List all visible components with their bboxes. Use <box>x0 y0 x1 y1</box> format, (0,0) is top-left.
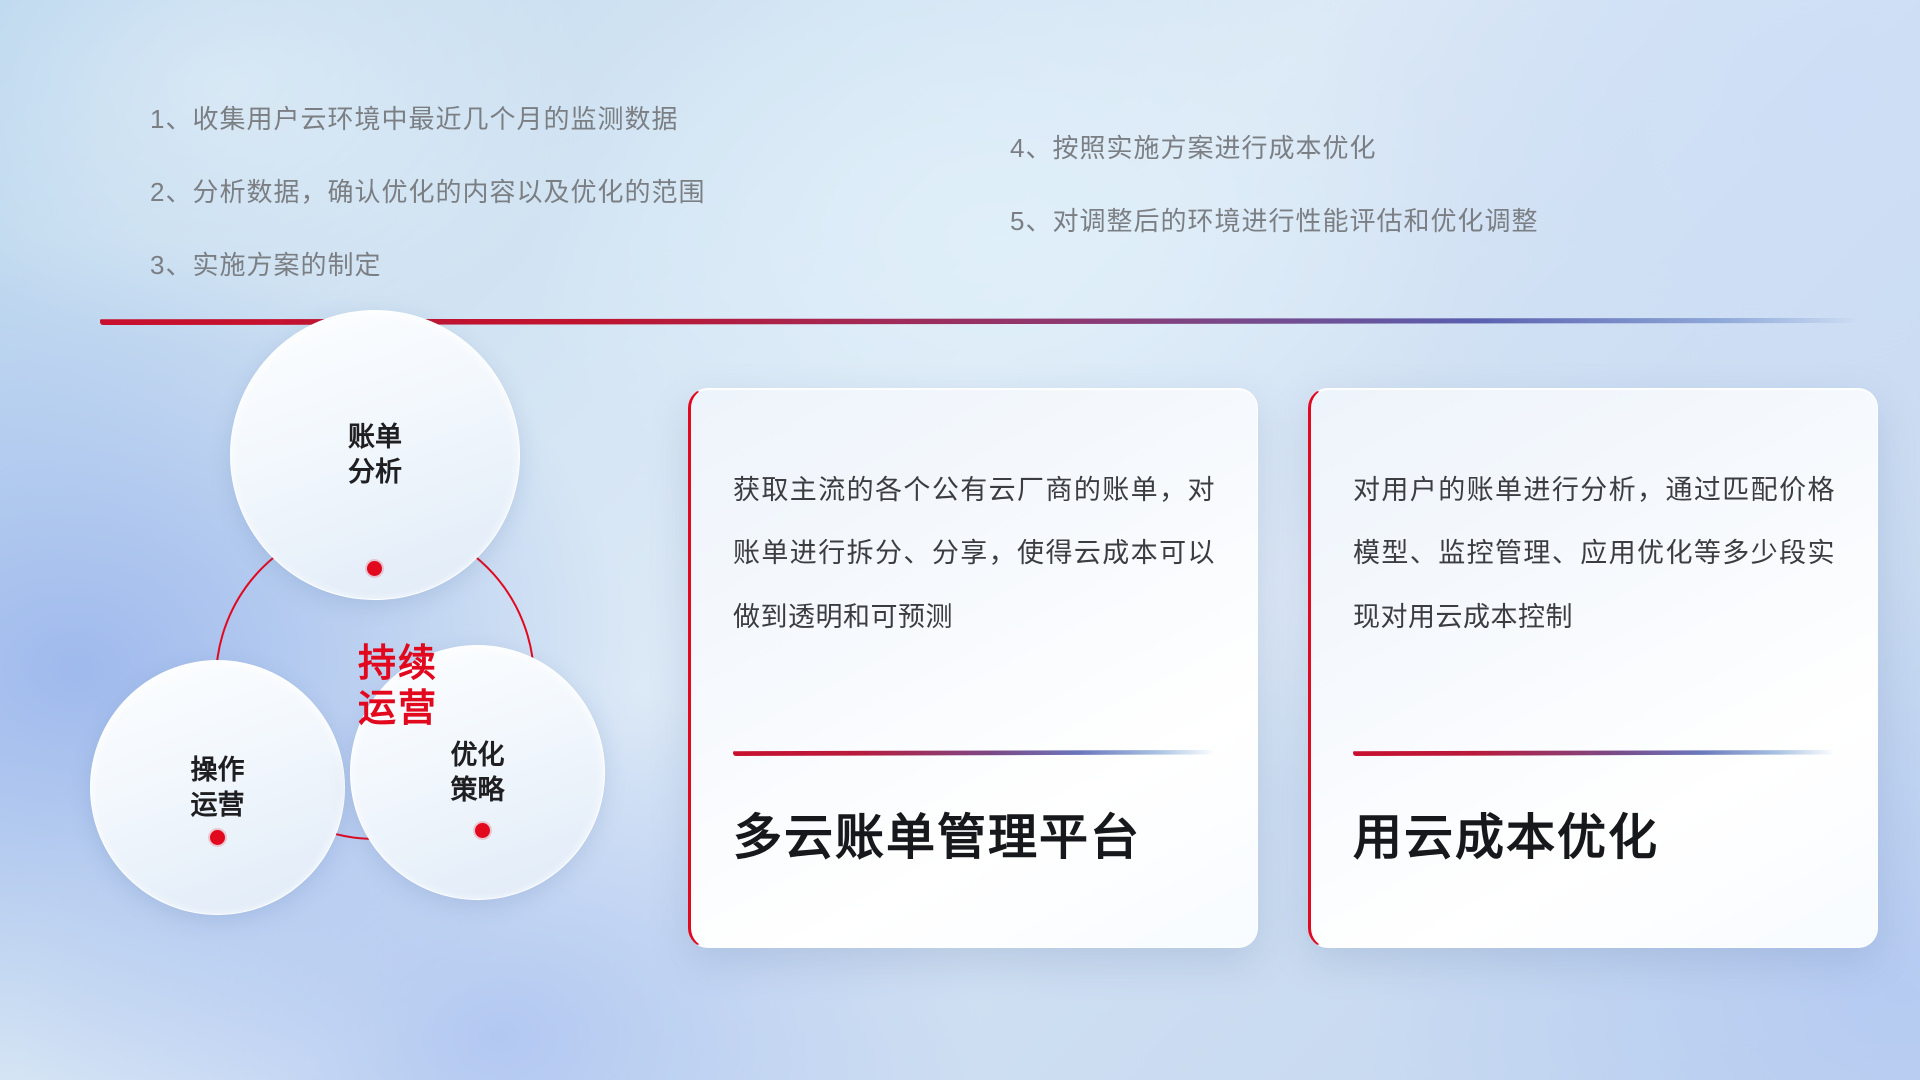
venn-node-dot-bottom-left <box>210 830 225 845</box>
feature-card-body: 获取主流的各个公有云厂商的账单，对账单进行拆分、分享，使得云成本可以做到透明和可… <box>733 459 1215 649</box>
step-item: 1、收集用户云环境中最近几个月的监测数据 <box>150 99 705 136</box>
venn-bubble-label-line1: 优化 <box>451 738 505 773</box>
venn-node-dot-bottom-right <box>475 823 490 838</box>
steps-list-left: 1、收集用户云环境中最近几个月的监测数据 2、分析数据，确认优化的内容以及优化的… <box>150 99 705 318</box>
venn-center-label: 持续 运营 <box>313 642 483 732</box>
feature-card-body: 对用户的账单进行分析，通过匹配价格模型、监控管理、应用优化等多少段实现对用云成本… <box>1353 459 1835 649</box>
venn-node-dot-top <box>367 561 382 576</box>
feature-card-title: 用云成本优化 <box>1353 756 1835 947</box>
step-item: 4、按照实施方案进行成本优化 <box>1010 128 1538 165</box>
venn-bubble-operations[interactable]: 操作 运营 <box>90 660 345 915</box>
venn-bubble-label-line2: 策略 <box>451 773 505 808</box>
feature-card-billing-platform[interactable]: 获取主流的各个公有云厂商的账单，对账单进行拆分、分享，使得云成本可以做到透明和可… <box>688 388 1258 948</box>
step-item: 3、实施方案的制定 <box>150 245 705 282</box>
feature-card-cost-optimization[interactable]: 对用户的账单进行分析，通过匹配价格模型、监控管理、应用优化等多少段实现对用云成本… <box>1308 388 1878 948</box>
venn-diagram: 账单 分析 操作 运营 优化 策略 持续 运营 <box>95 355 575 955</box>
venn-bubble-label-line2: 分析 <box>348 455 402 490</box>
venn-bubble-label-line1: 操作 <box>191 753 245 788</box>
steps-list-right: 4、按照实施方案进行成本优化 5、对调整后的环境进行性能评估和优化调整 <box>1010 128 1538 274</box>
feature-card-title: 多云账单管理平台 <box>733 756 1215 947</box>
venn-bubble-label-line1: 账单 <box>348 420 402 455</box>
venn-bubble-label-line2: 运营 <box>191 788 245 823</box>
venn-bubble-bill-analysis[interactable]: 账单 分析 <box>230 310 520 600</box>
venn-center-label-line1: 持续 <box>313 642 483 687</box>
step-item: 2、分析数据，确认优化的内容以及优化的范围 <box>150 172 705 209</box>
venn-center-label-line2: 运营 <box>313 687 483 732</box>
step-item: 5、对调整后的环境进行性能评估和优化调整 <box>1010 201 1538 238</box>
